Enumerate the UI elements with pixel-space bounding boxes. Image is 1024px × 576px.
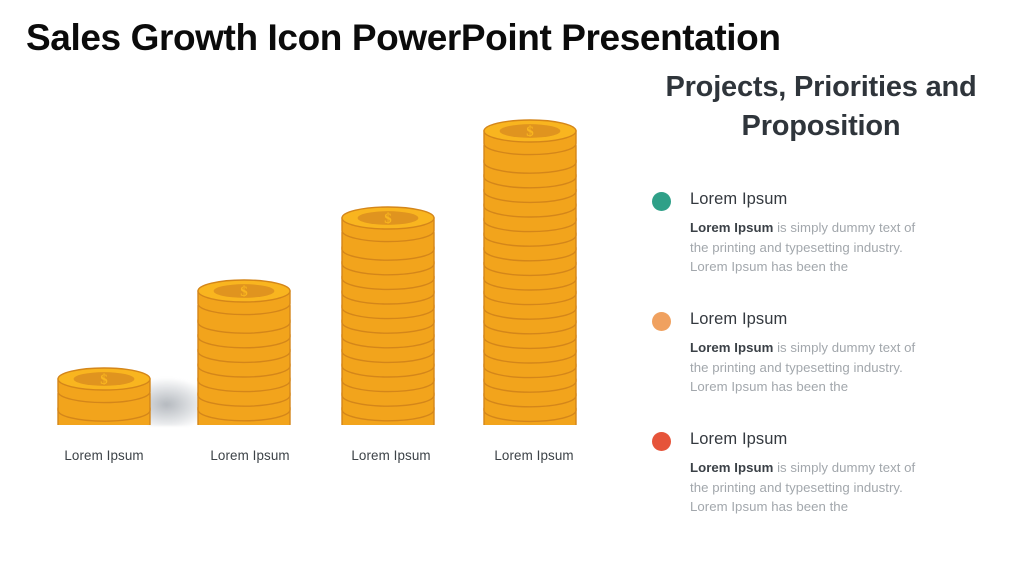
- list-item-body: Lorem Ipsum Lorem Ipsum is simply dummy …: [690, 308, 1018, 397]
- svg-text:$: $: [240, 284, 248, 300]
- stack-caption: Lorem Ipsum: [34, 447, 174, 465]
- bullet-dot-icon: [652, 312, 671, 331]
- list-item-text: Lorem Ipsum is simply dummy text of the …: [690, 338, 936, 397]
- list-item-text: Lorem Ipsum is simply dummy text of the …: [690, 458, 936, 517]
- list-item-title: Lorem Ipsum: [690, 428, 1018, 450]
- stack-caption: Lorem Ipsum: [321, 447, 461, 465]
- list-item-text-lead: Lorem Ipsum: [690, 340, 773, 355]
- coin-stack-chart: $Lorem Ipsum$Lorem Ipsum$Lorem Ipsum$Lor…: [0, 0, 620, 576]
- list-item[interactable]: Lorem Ipsum Lorem Ipsum is simply dummy …: [652, 188, 1018, 284]
- list-item-text-lead: Lorem Ipsum: [690, 220, 773, 235]
- stack-caption: Lorem Ipsum: [180, 447, 320, 465]
- coin-stack-bar: $: [340, 201, 436, 425]
- coin-stack-bar: $: [56, 362, 152, 425]
- coin-stack-bar: $: [482, 114, 578, 425]
- list-item[interactable]: Lorem Ipsum Lorem Ipsum is simply dummy …: [652, 308, 1018, 404]
- section-heading: Projects, Priorities and Proposition: [642, 68, 1000, 146]
- list-item[interactable]: Lorem Ipsum Lorem Ipsum is simply dummy …: [652, 428, 1018, 524]
- coin-stack-bar: $: [196, 274, 292, 425]
- list-item-body: Lorem Ipsum Lorem Ipsum is simply dummy …: [690, 428, 1018, 517]
- bullet-list: Lorem Ipsum Lorem Ipsum is simply dummy …: [652, 188, 1018, 548]
- svg-text:$: $: [384, 211, 392, 227]
- stack-caption: Lorem Ipsum: [464, 447, 604, 465]
- list-item-text: Lorem Ipsum is simply dummy text of the …: [690, 218, 936, 277]
- bullet-dot-icon: [652, 192, 671, 211]
- list-item-body: Lorem Ipsum Lorem Ipsum is simply dummy …: [690, 188, 1018, 277]
- list-item-title: Lorem Ipsum: [690, 308, 1018, 330]
- svg-text:$: $: [526, 124, 534, 140]
- bullet-dot-icon: [652, 432, 671, 451]
- list-item-text-lead: Lorem Ipsum: [690, 460, 773, 475]
- svg-text:$: $: [100, 372, 108, 388]
- list-item-title: Lorem Ipsum: [690, 188, 1018, 210]
- right-column: Projects, Priorities and Proposition: [636, 68, 1008, 146]
